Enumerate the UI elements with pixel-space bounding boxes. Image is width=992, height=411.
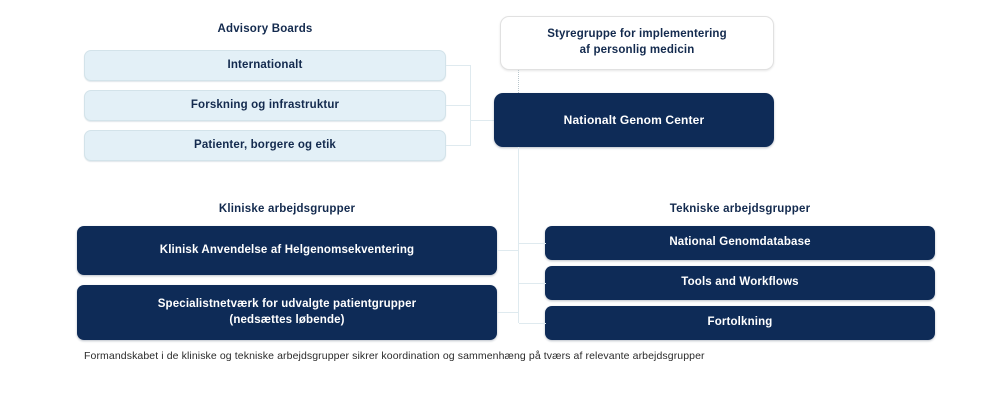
footer-caption: Formandskabet i de kliniske og tekniske … [84,350,705,362]
connector-advisory-2 [446,105,471,106]
connector-advisory-bus [470,65,471,146]
connector-center-trunk [518,147,519,323]
nationalt-genom-center-box[interactable]: Nationalt Genom Center [494,93,774,147]
advisory-box-patienter-borgere-og-etik-label: Patienter, borgere og etik [184,138,346,154]
connector-advisory-to-center [470,120,495,121]
diagram-canvas: Advisory Boards Internationalt Forskning… [0,0,992,411]
advisory-box-forskning-og-infrastruktur[interactable]: Forskning og infrastruktur [84,90,446,121]
clinical-box-specialistnetvaerk[interactable]: Specialistnetværk for udvalgte patientgr… [77,285,497,340]
connector-technical-1 [519,243,546,244]
clinical-box-klinisk-anvendelse-label: Klinisk Anvendelse af Helgenomsekventeri… [150,243,424,259]
connector-advisory-1 [446,65,471,66]
connector-clinical-1 [497,250,519,251]
connector-advisory-3 [446,145,471,146]
advisory-box-forskning-og-infrastruktur-label: Forskning og infrastruktur [181,98,349,114]
advisory-boards-heading: Advisory Boards [84,23,446,35]
technical-box-fortolkning[interactable]: Fortolkning [545,306,935,340]
steering-group-box[interactable]: Styregruppe for implementering af person… [500,16,774,70]
steering-group-line-2: af personlig medicin [580,43,695,59]
advisory-box-internationalt-label: Internationalt [218,58,313,74]
connector-technical-2 [519,283,546,284]
technical-box-tools-and-workflows-label: Tools and Workflows [671,275,808,291]
technical-box-fortolkning-label: Fortolkning [698,315,783,331]
connector-clinical-2 [497,312,519,313]
clinical-box-specialistnetvaerk-line-1: Specialistnetværk for udvalgte patientgr… [158,297,417,313]
connector-technical-3 [519,323,546,324]
clinical-box-klinisk-anvendelse[interactable]: Klinisk Anvendelse af Helgenomsekventeri… [77,226,497,275]
technical-box-national-genomdatabase-label: National Genomdatabase [659,235,820,251]
connector-steering-to-center-dotted [518,70,519,93]
nationalt-genom-center-label: Nationalt Genom Center [554,112,715,128]
technical-groups-heading: Tekniske arbejdsgrupper [545,203,935,215]
technical-box-national-genomdatabase[interactable]: National Genomdatabase [545,226,935,260]
steering-group-line-1: Styregruppe for implementering [547,27,727,43]
advisory-box-internationalt[interactable]: Internationalt [84,50,446,81]
technical-box-tools-and-workflows[interactable]: Tools and Workflows [545,266,935,300]
clinical-box-specialistnetvaerk-line-2: (nedsættes løbende) [229,313,344,329]
advisory-box-patienter-borgere-og-etik[interactable]: Patienter, borgere og etik [84,130,446,161]
clinical-groups-heading: Kliniske arbejdsgrupper [77,203,497,215]
